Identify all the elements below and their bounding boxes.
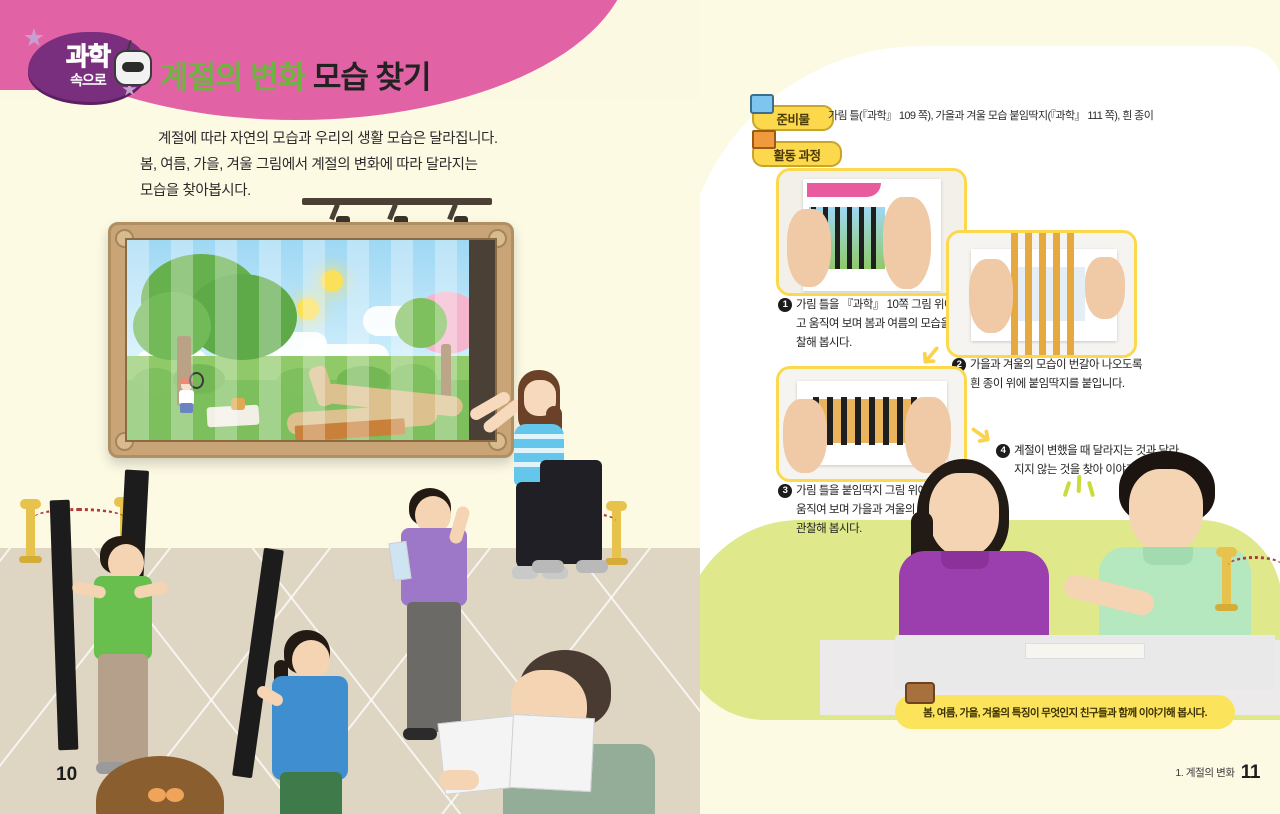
visitor-pants <box>98 654 148 766</box>
left-hand <box>969 259 1013 333</box>
left-page-number: 10 <box>56 764 77 786</box>
step-2-photo <box>946 230 1137 358</box>
visitor-plaid-shirt <box>250 620 390 814</box>
masking-strip <box>869 397 875 445</box>
right-hand <box>883 197 931 289</box>
masking-strip <box>835 207 840 269</box>
visitor-shoe <box>532 560 564 573</box>
page-title-green: 계절의 변화 <box>160 60 305 95</box>
step-2-text: 2 가을과 겨울의 모습이 번갈아 나오도록 흰 종이 위에 붙임딱지를 붙입니… <box>952 356 1152 394</box>
footer-unit-label: 1. 계절의 변화 <box>1175 767 1234 779</box>
discussion-text: 봄, 여름, 가을, 겨울의 특징이 무엇인지 친구들과 함께 이야기해 봅시다… <box>895 695 1235 729</box>
masking-strip <box>827 397 833 445</box>
left-hand <box>783 399 827 473</box>
visitor-head <box>292 640 330 680</box>
visitor-legs-only <box>530 460 620 600</box>
sticker-sheet-on-desk <box>1025 643 1145 659</box>
step-number: 3 <box>778 484 792 498</box>
visitor-brown-hair-foreground <box>96 756 236 814</box>
intro-paragraph: 계절에 따라 자연의 모습과 우리의 생활 모습은 달라집니다. 봄, 여름, … <box>140 126 540 204</box>
intro-line-2: 봄, 여름, 가을, 겨울 그림에서 계절의 변화에 따라 달라지는 <box>140 157 478 173</box>
masking-strip <box>859 207 864 269</box>
sparkle-icon <box>1087 481 1095 497</box>
sticker-strip <box>1053 233 1060 355</box>
right-page-number: 11 <box>1241 762 1260 783</box>
step-1-text: 1 가림 틀을 『과학』 10쪽 그림 위에 놓고 움직여 보며 봄과 여름의 … <box>778 296 968 353</box>
stanchion-rope <box>1228 556 1280 575</box>
polo-collar <box>941 551 989 569</box>
hair-clip <box>166 788 184 802</box>
visitor-shoe <box>576 560 608 573</box>
page-title-black: 모습 찾기 <box>313 60 431 95</box>
step-body: 가을과 겨울의 모습이 번갈아 나오도록 흰 종이 위에 붙임딱지를 붙입니다. <box>970 356 1152 394</box>
masking-strip <box>855 397 861 445</box>
visitor-shirt <box>272 676 348 780</box>
speech-mascot-icon <box>905 682 935 704</box>
materials-text: 가림 틀(『과학』 109 쪽), 가을과 겨울 모습 붙임딱지(『과학』 11… <box>828 107 1153 123</box>
step-4-photo <box>875 445 1275 690</box>
left-hand <box>787 209 831 287</box>
visitor-hair <box>96 756 224 814</box>
sparkle-icon <box>1077 475 1082 493</box>
student-face <box>929 473 999 557</box>
visitor-hand <box>439 770 479 790</box>
season-stripe-overlay <box>127 240 495 440</box>
hair-clip <box>148 788 166 802</box>
right-page: 준비물 가림 틀(『과학』 109 쪽), 가을과 겨울 모습 붙임딱지(『과학… <box>700 0 1280 814</box>
masking-strip <box>883 397 889 445</box>
masking-strip <box>871 207 876 269</box>
polo-collar <box>1143 547 1193 565</box>
masking-strip <box>897 397 903 445</box>
intro-line-3: 모습을 찾아봅시다. <box>140 183 251 199</box>
materials-tag-label: 준비물 <box>776 109 809 128</box>
brochure-icon <box>509 714 595 792</box>
subject-badge: 과학 속으로 <box>18 28 153 106</box>
sticker-strip <box>1025 233 1032 355</box>
right-page-footer: 1. 계절의 변화11 <box>1175 762 1260 784</box>
sticker-strip <box>1067 233 1074 355</box>
student-girl <box>895 459 1055 659</box>
stanchion-post <box>26 506 35 558</box>
visitor-arm-raised <box>448 505 471 545</box>
procedure-tag-label: 활동 과정 <box>774 145 821 164</box>
masking-strip <box>847 207 852 269</box>
discussion-bubble: 봄, 여름, 가을, 겨울의 특징이 무엇인지 친구들과 함께 이야기해 봅시다… <box>895 695 1235 729</box>
step-number: 1 <box>778 298 792 312</box>
visitor-pants <box>407 602 461 732</box>
sparkle-icon <box>1063 481 1072 497</box>
picture-canvas <box>125 238 497 442</box>
intro-line-1: 계절에 따라 자연의 모습과 우리의 생활 모습은 달라집니다. <box>140 126 540 152</box>
right-hand <box>1085 257 1125 319</box>
visitor-reading-brochure <box>455 658 675 814</box>
visitor-shoe <box>403 728 437 740</box>
stacked-books-icon <box>752 130 776 149</box>
spotlight-rail <box>302 198 492 205</box>
step-1-photo <box>776 168 967 296</box>
textbook-pink-header <box>807 183 881 197</box>
sticker-strip <box>1039 233 1046 355</box>
framed-seasons-picture <box>108 222 514 458</box>
left-page: 과학 속으로 계절의 변화 모습 찾기 계절에 따라 자연의 모습과 우리의 생… <box>0 0 700 814</box>
visitor-pants <box>540 460 602 564</box>
masking-strip <box>841 397 847 445</box>
step-body: 가림 틀을 『과학』 10쪽 그림 위에 놓고 움직여 보며 봄과 여름의 모습… <box>796 296 968 353</box>
visitor-pants <box>280 772 342 814</box>
robot-mascot-icon <box>114 50 152 86</box>
page-title: 계절의 변화 모습 찾기 <box>160 52 431 97</box>
student-face <box>1129 469 1203 553</box>
gift-box-icon <box>750 94 774 114</box>
